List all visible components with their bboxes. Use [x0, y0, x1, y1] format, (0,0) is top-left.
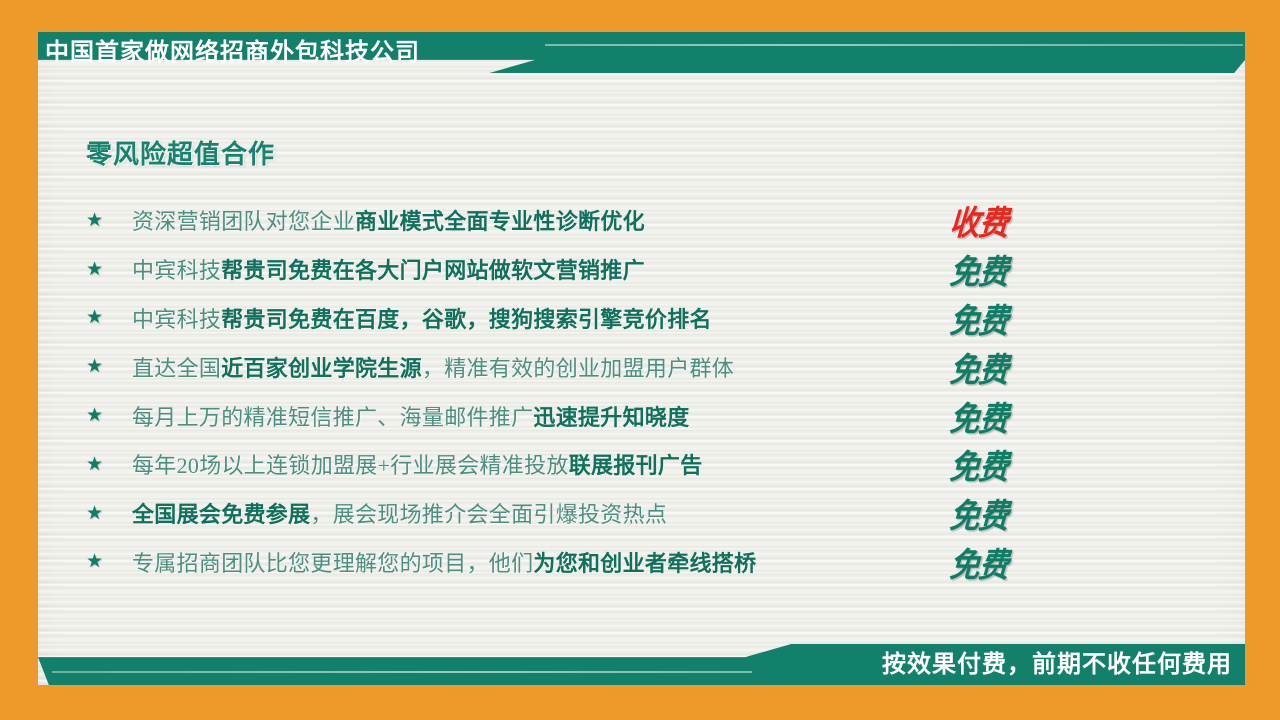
benefit-segment: 专属招商团队比您更理解您的项目，他们	[132, 551, 533, 576]
slide-root: 中国首家做网络招商外包科技公司 零风险超值合作 ★资深营销团队对您企业商业模式全…	[0, 0, 1280, 720]
benefit-segment-emphasis: 为您和创业者牵线搭桥	[533, 551, 756, 576]
benefit-segment: 每年20场以上连锁加盟展+行业展会精准投放	[132, 453, 569, 478]
star-icon: ★	[86, 308, 132, 327]
benefit-text: 每月上万的精准短信推广、海量邮件推广迅速提升知晓度	[132, 400, 1086, 432]
benefit-segment: ，展会现场推介会全面引爆投资热点	[310, 502, 667, 527]
star-icon: ★	[86, 406, 132, 425]
benefit-segment-emphasis: 联展报刊广告	[569, 453, 703, 478]
footer-divider-line	[52, 671, 752, 673]
benefit-segment: 直达全国	[132, 356, 221, 381]
benefit-text: 每年20场以上连锁加盟展+行业展会精准投放联展报刊广告	[132, 448, 1086, 480]
star-icon: ★	[86, 455, 132, 474]
header-title: 中国首家做网络招商外包科技公司	[45, 36, 420, 70]
star-icon: ★	[86, 504, 132, 523]
price-row: 免费	[950, 294, 1070, 343]
benefit-row: ★专属招商团队比您更理解您的项目，他们为您和创业者牵线搭桥	[86, 538, 1086, 587]
benefit-row: ★资深营销团队对您企业商业模式全面专业性诊断优化	[86, 196, 1086, 245]
benefit-text: 中宾科技帮贵司免费在各大门户网站做软文营销推广	[132, 253, 1086, 285]
header-divider-line	[545, 44, 1243, 46]
benefit-segment-emphasis: 迅速提升知晓度	[533, 405, 689, 430]
benefit-segment-emphasis: 近百家创业学院生源	[221, 356, 422, 381]
benefit-segment: 资深营销团队对您企业	[132, 209, 355, 234]
price-row: 免费	[950, 538, 1070, 587]
price-column: 收费免费免费免费免费免费免费免费	[950, 196, 1070, 586]
price-row: 免费	[950, 391, 1070, 440]
section-title: 零风险超值合作	[86, 134, 275, 171]
price-badge: 免费	[948, 440, 1009, 489]
benefit-segment: 中宾科技	[132, 258, 221, 283]
benefit-row: ★直达全国近百家创业学院生源，精准有效的创业加盟用户群体	[86, 342, 1086, 391]
benefit-text: 全国展会免费参展，展会现场推介会全面引爆投资热点	[132, 497, 1086, 529]
price-row: 免费	[950, 342, 1070, 391]
benefit-segment-emphasis: 帮贵司免费在各大门户网站做软文营销推广	[221, 258, 645, 283]
benefit-row: ★中宾科技帮贵司免费在百度，谷歌，搜狗搜索引擎竞价排名	[86, 294, 1086, 343]
benefit-text: 资深营销团队对您企业商业模式全面专业性诊断优化	[132, 204, 1086, 236]
benefit-segment: 每月上万的精准短信推广、海量邮件推广	[132, 405, 533, 430]
star-icon: ★	[86, 260, 132, 279]
price-badge: 收费	[948, 196, 1009, 245]
footer-tagline: 按效果付费，前期不收任何费用	[882, 646, 1232, 683]
benefit-list: ★资深营销团队对您企业商业模式全面专业性诊断优化★中宾科技帮贵司免费在各大门户网…	[86, 196, 1086, 586]
benefit-row: ★每月上万的精准短信推广、海量邮件推广迅速提升知晓度	[86, 391, 1086, 440]
price-badge: 免费	[948, 489, 1009, 538]
price-badge: 免费	[948, 342, 1009, 391]
benefit-segment-emphasis: 商业模式全面专业性诊断优化	[355, 209, 645, 234]
benefit-row: ★全国展会免费参展，展会现场推介会全面引爆投资热点	[86, 489, 1086, 538]
benefit-text: 直达全国近百家创业学院生源，精准有效的创业加盟用户群体	[132, 351, 1086, 383]
star-icon: ★	[86, 211, 132, 230]
benefit-segment-emphasis: 帮贵司免费在百度，谷歌，搜狗搜索引擎竞价排名	[221, 307, 712, 332]
star-icon: ★	[86, 552, 132, 571]
price-badge: 免费	[948, 391, 1009, 440]
benefit-text: 专属招商团队比您更理解您的项目，他们为您和创业者牵线搭桥	[132, 546, 1086, 578]
benefit-segment: ，精准有效的创业加盟用户群体	[422, 356, 734, 381]
benefit-row: ★中宾科技帮贵司免费在各大门户网站做软文营销推广	[86, 245, 1086, 294]
benefit-segment-emphasis: 全国展会免费参展	[132, 502, 310, 527]
benefit-segment: 中宾科技	[132, 307, 221, 332]
benefit-row: ★每年20场以上连锁加盟展+行业展会精准投放联展报刊广告	[86, 440, 1086, 489]
price-badge: 免费	[948, 537, 1009, 586]
price-badge: 免费	[948, 293, 1009, 342]
price-row: 免费	[950, 440, 1070, 489]
benefit-text: 中宾科技帮贵司免费在百度，谷歌，搜狗搜索引擎竞价排名	[132, 302, 1086, 334]
price-row: 免费	[950, 489, 1070, 538]
star-icon: ★	[86, 357, 132, 376]
price-row: 免费	[950, 245, 1070, 294]
price-row: 收费	[950, 196, 1070, 245]
price-badge: 免费	[948, 245, 1009, 294]
